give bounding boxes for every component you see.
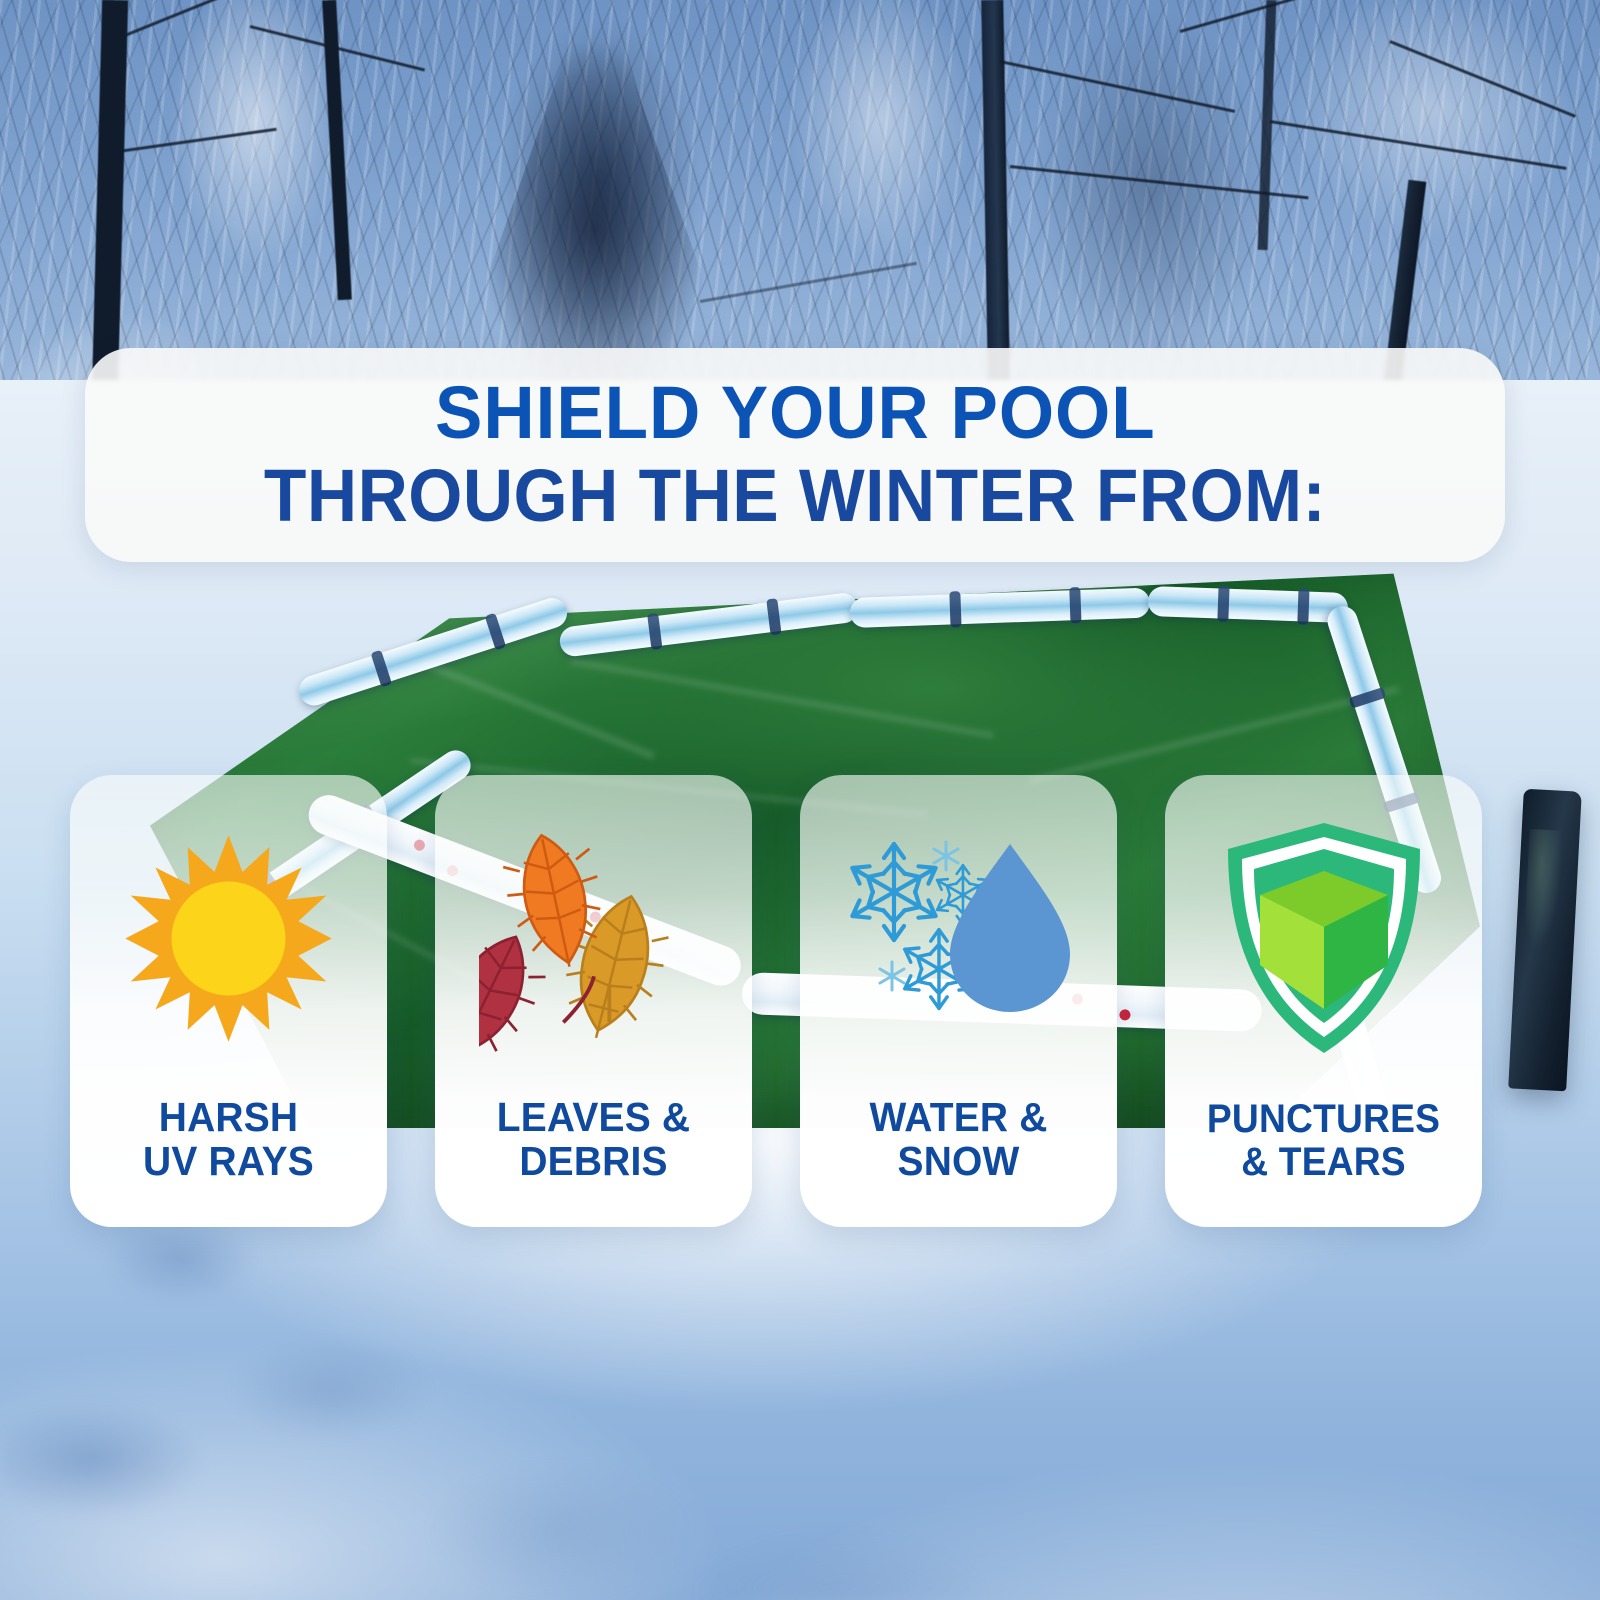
feature-card-harsh-uv-rays[interactable]: HARSH UV RAYS <box>70 775 387 1227</box>
feature-label-line-1: PUNCTURES <box>1207 1097 1440 1141</box>
feature-card-label: PUNCTURES & TEARS <box>1176 1098 1471 1183</box>
feature-card-label: HARSH UV RAYS <box>78 1096 379 1183</box>
feature-label-line-2: SNOW <box>808 1140 1109 1183</box>
feature-label-line-2: DEBRIS <box>443 1140 744 1183</box>
feature-label-line-2: & TEARS <box>1176 1141 1471 1183</box>
sun-icon <box>70 813 387 1063</box>
water-droplet <box>950 844 1070 1012</box>
snowflake-large <box>846 844 940 940</box>
shield-cube-svg <box>1218 819 1430 1057</box>
shield-cube-icon <box>1165 813 1482 1063</box>
headline-line-2: THROUGH THE WINTER FROM: <box>264 459 1326 533</box>
snowflakes-water-drop-icon <box>800 813 1117 1063</box>
feature-label-line-1: LEAVES & <box>497 1094 690 1140</box>
feature-label-line-1: HARSH <box>159 1094 298 1140</box>
autumn-leaves-icon <box>435 813 752 1063</box>
feature-card-leaves-debris[interactable]: LEAVES & DEBRIS <box>435 775 752 1227</box>
feature-card-label: LEAVES & DEBRIS <box>443 1096 744 1183</box>
feature-card-row: HARSH UV RAYS <box>70 775 1530 1235</box>
feature-label-line-2: UV RAYS <box>78 1140 379 1183</box>
feature-card-punctures-tears[interactable]: PUNCTURES & TEARS <box>1165 775 1482 1227</box>
snowflake-mini <box>934 842 958 870</box>
snowflake-drop-svg <box>834 828 1084 1048</box>
feature-card-label: WATER & SNOW <box>808 1096 1109 1183</box>
headline-banner: SHIELD YOUR POOL THROUGH THE WINTER FROM… <box>85 348 1505 562</box>
headline-line-1: SHIELD YOUR POOL <box>435 377 1156 450</box>
autumn-leaves-icon-svg <box>479 823 709 1053</box>
sun-icon-svg <box>121 831 336 1046</box>
snowflake-mini <box>880 962 904 990</box>
feature-label-line-1: WATER & <box>869 1094 1047 1140</box>
feature-card-water-snow[interactable]: WATER & SNOW <box>800 775 1117 1227</box>
